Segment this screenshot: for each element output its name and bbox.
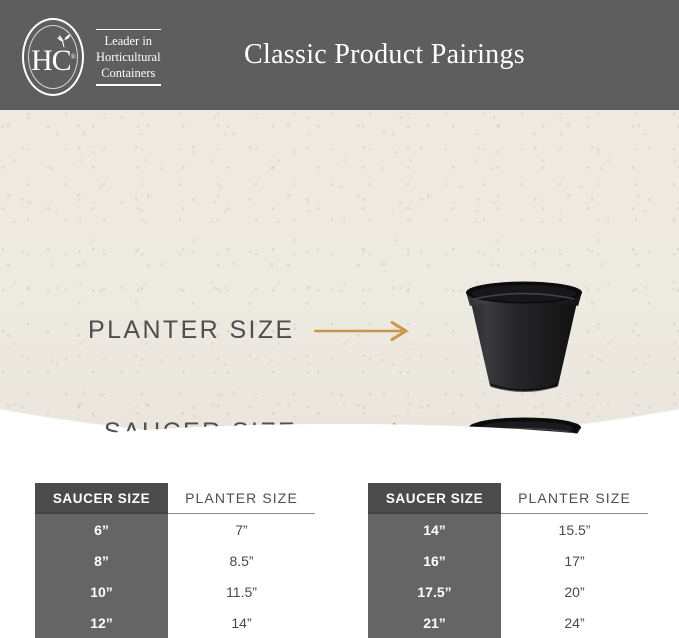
table-row: 17.5” 20” [368, 576, 648, 607]
cell-planter-size: 24” [501, 607, 648, 638]
table-row: 8” 8.5” [35, 545, 315, 576]
planter-size-callout: PLANTER SIZE [88, 316, 411, 345]
table-row: 16” 17” [368, 545, 648, 576]
table-row: 10” 11.5” [35, 576, 315, 607]
logo-monogram-text: HC [31, 44, 71, 77]
hero-panel: PLANTER SIZE SAUCER SIZE [0, 110, 679, 440]
logo-registered-mark: ® [71, 53, 75, 61]
table-row: 14” 15.5” [368, 514, 648, 545]
table-header-row: SAUCER SIZE PLANTER SIZE [368, 483, 648, 514]
size-table-right: SAUCER SIZE PLANTER SIZE 14” 15.5” 16” 1… [368, 483, 648, 638]
size-chart-tables: SAUCER SIZE PLANTER SIZE 6” 7” 8” 8.5” 1… [0, 440, 679, 636]
column-header-planter-size: PLANTER SIZE [501, 483, 648, 514]
cell-planter-size: 14” [168, 607, 315, 638]
leaf-icon [55, 33, 73, 48]
cell-saucer-size: 16” [368, 545, 501, 576]
cell-saucer-size: 12” [35, 607, 168, 638]
table-header-row: SAUCER SIZE PLANTER SIZE [35, 483, 315, 514]
cell-planter-size: 7” [168, 514, 315, 545]
cell-planter-size: 11.5” [168, 576, 315, 607]
planter-pot-image [460, 280, 588, 400]
cell-saucer-size: 6” [35, 514, 168, 545]
cell-planter-size: 15.5” [501, 514, 648, 545]
page-header: HC® Leader in Horticultural Containers C… [0, 0, 679, 110]
arrow-right-icon [313, 320, 411, 342]
size-table-left: SAUCER SIZE PLANTER SIZE 6” 7” 8” 8.5” 1… [35, 483, 315, 638]
logo-monogram: HC® [31, 46, 75, 76]
cell-planter-size: 8.5” [168, 545, 315, 576]
column-header-saucer-size: SAUCER SIZE [35, 483, 168, 514]
cell-saucer-size: 21” [368, 607, 501, 638]
cell-saucer-size: 17.5” [368, 576, 501, 607]
table-row: 21” 24” [368, 607, 648, 638]
cell-planter-size: 17” [501, 545, 648, 576]
column-header-planter-size: PLANTER SIZE [168, 483, 315, 514]
cell-saucer-size: 10” [35, 576, 168, 607]
table-row: 12” 14” [35, 607, 315, 638]
cell-planter-size: 20” [501, 576, 648, 607]
planter-size-label: PLANTER SIZE [88, 316, 295, 345]
cell-saucer-size: 14” [368, 514, 501, 545]
cell-saucer-size: 8” [35, 545, 168, 576]
column-header-saucer-size: SAUCER SIZE [368, 483, 501, 514]
page-title: Classic Product Pairings [0, 0, 679, 110]
table-row: 6” 7” [35, 514, 315, 545]
